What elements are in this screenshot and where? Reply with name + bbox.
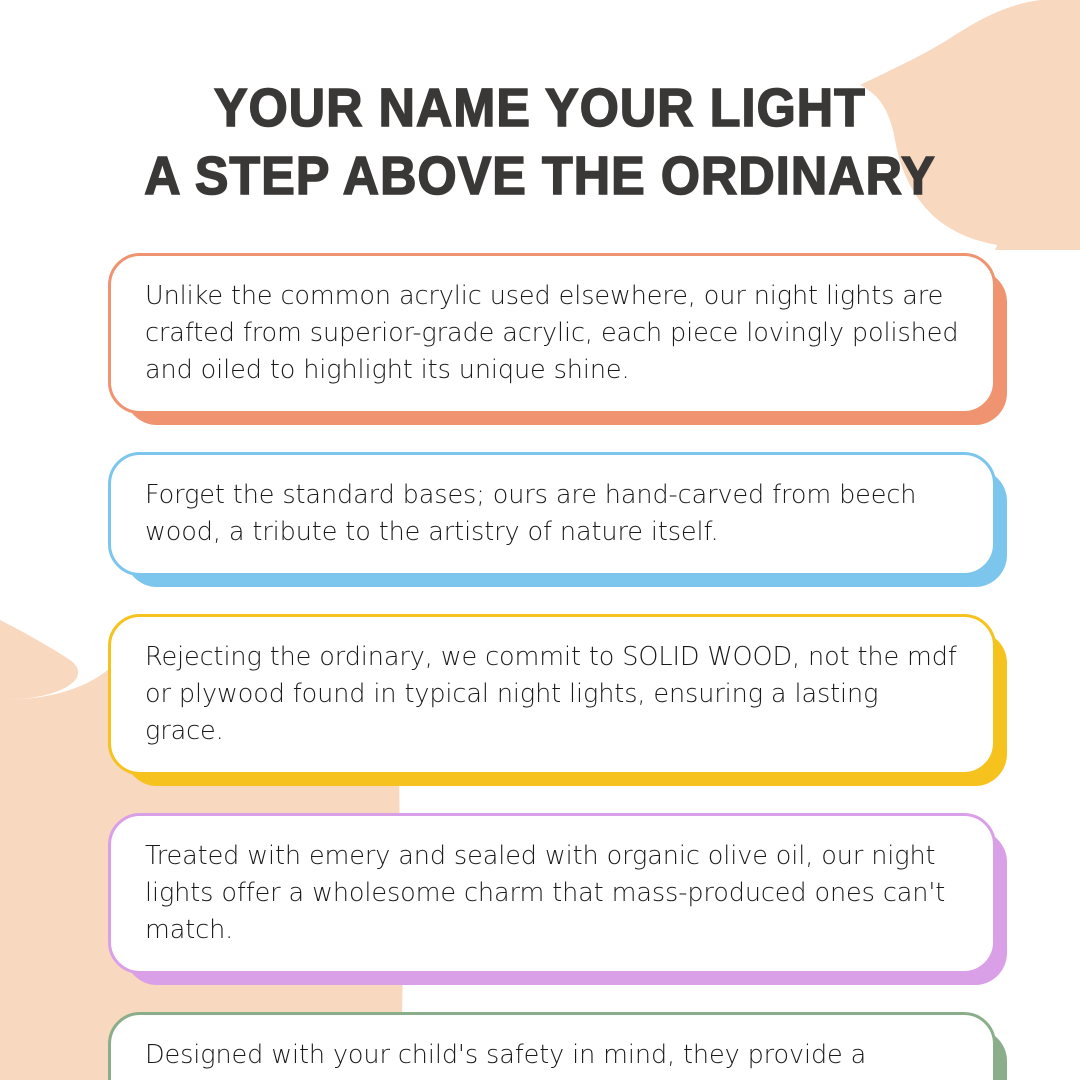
poster-canvas: YOUR NAME YOUR LIGHT A STEP ABOVE THE OR…: [0, 0, 1080, 1080]
feature-card: Designed with your child's safety in min…: [108, 1012, 996, 1080]
feature-card: Treated with emery and sealed with organ…: [108, 813, 996, 974]
feature-card-text: Unlike the common acrylic used elsewhere…: [145, 278, 963, 389]
feature-card-text: Treated with emery and sealed with organ…: [145, 838, 963, 949]
feature-card-text: Forget the standard bases; ours are hand…: [145, 477, 963, 551]
bottom-left-star-blob-tip: [0, 620, 78, 700]
feature-card: Unlike the common acrylic used elsewhere…: [108, 253, 996, 414]
feature-card: Rejecting the ordinary, we commit to SOL…: [108, 614, 996, 775]
page-title-line-2: A STEP ABOVE THE ORDINARY: [38, 142, 1042, 210]
feature-card: Forget the standard bases; ours are hand…: [108, 452, 996, 576]
page-title-line-1: YOUR NAME YOUR LIGHT: [38, 74, 1042, 142]
feature-card-list: Unlike the common acrylic used elsewhere…: [108, 253, 996, 1080]
feature-card-text: Designed with your child's safety in min…: [145, 1037, 963, 1080]
page-title: YOUR NAME YOUR LIGHT A STEP ABOVE THE OR…: [0, 74, 1080, 210]
feature-card-text: Rejecting the ordinary, we commit to SOL…: [145, 639, 963, 750]
